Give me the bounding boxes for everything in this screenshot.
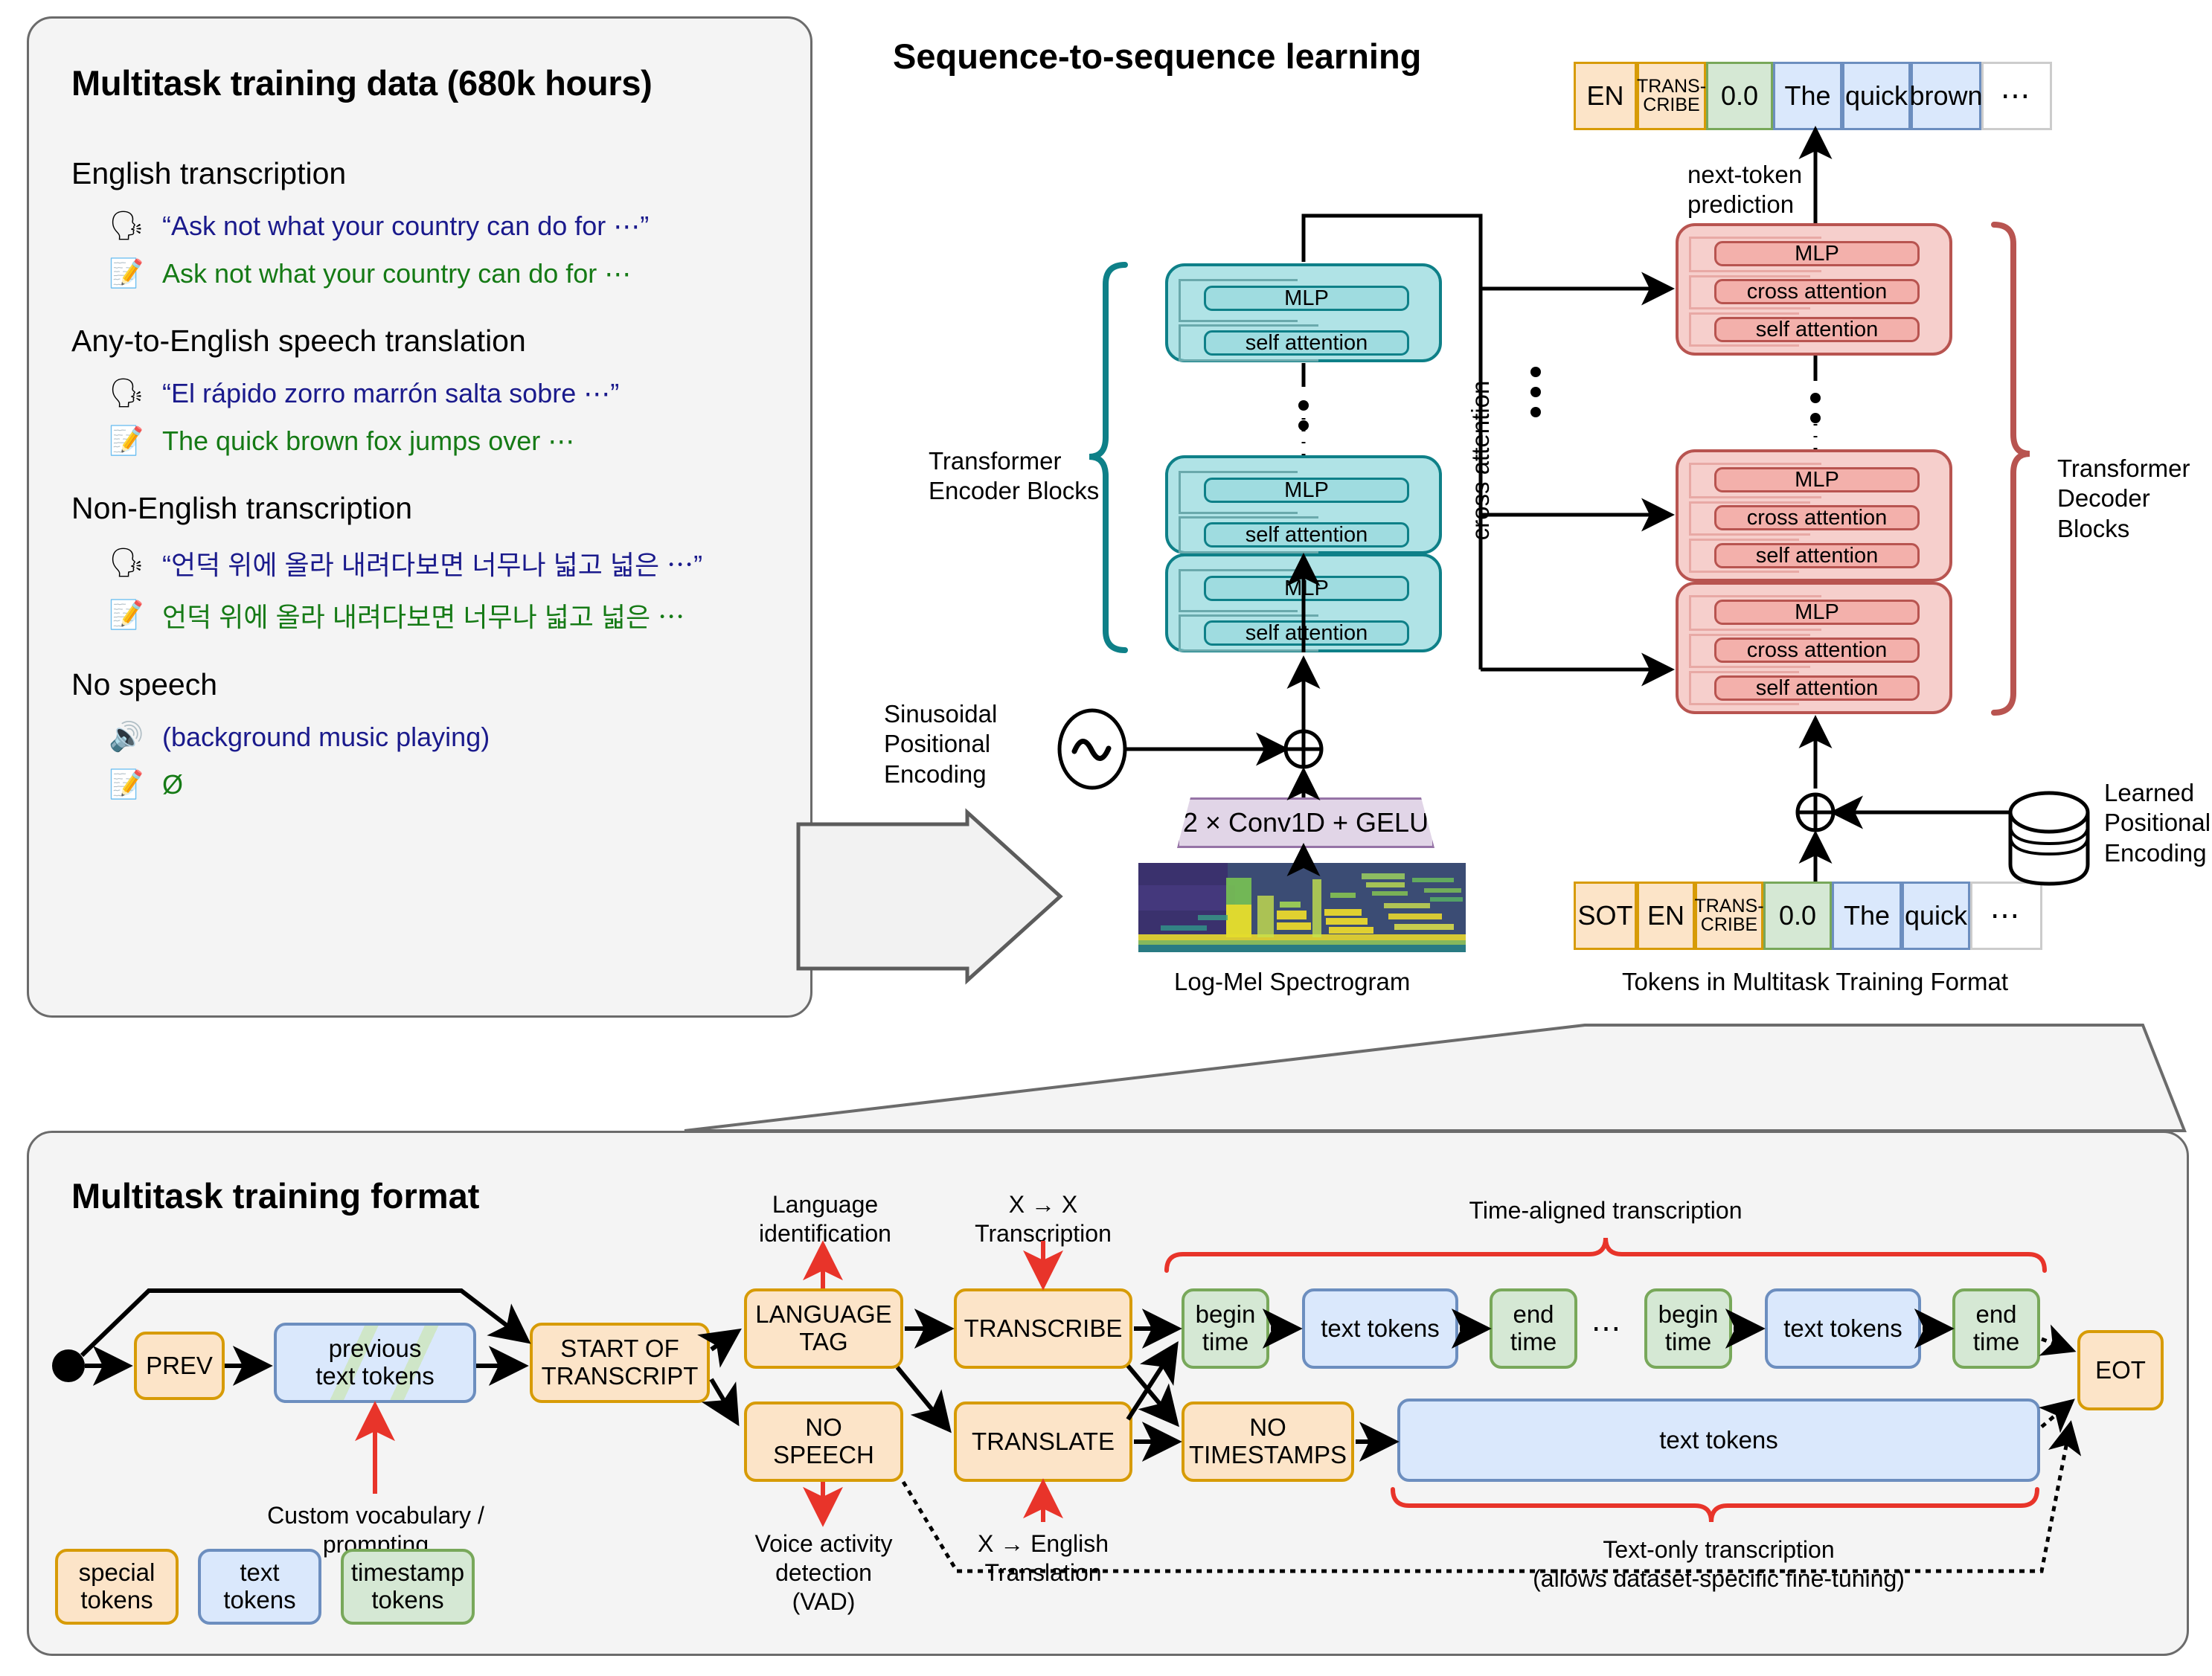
node-translate[interactable]: TRANSLATE [954,1402,1132,1482]
node-previous-text-tokens[interactable]: previous text tokens [274,1323,476,1403]
node-start-of-transcript[interactable]: START OF TRANSCRIPT [530,1323,710,1403]
node-no-timestamps[interactable]: NO TIMESTAMPS [1182,1402,1354,1482]
token-ellipsis: ⋯ [1981,62,2052,130]
token-en: EN [1574,62,1637,130]
sine-wave-icon [1074,741,1109,758]
spectrogram-caption: Log-Mel Spectrogram [1174,967,1410,997]
example-speech-row: 🗣 “Ask not what your country can do for … [107,209,786,243]
decoder-block-middle: MLP cross attention self attention [1676,449,1952,582]
annotation-text-only-transcription: Text-only transcription (allows dataset-… [1406,1535,2031,1593]
data-panel-title: Multitask training data (680k hours) [71,62,653,103]
panel-connector-arrow [798,812,1060,980]
speech-text: “El rápido zorro marrón salta sobre ⋯” [162,378,619,409]
category-english-transcription: English transcription 🗣 “Ask not what yo… [71,156,786,291]
category-title: No speech [71,667,786,702]
decoder-add-node [1798,794,1833,830]
learned-positional-encoding-label: Learned Positional Encoding [2104,778,2211,868]
encoder-self-attention: self attention [1204,330,1409,356]
annotation-language-identification: Language identification [707,1190,943,1248]
encoder-add-node [1286,731,1321,767]
token-timestamp-0: 0.0 [1763,882,1832,950]
input-token-strip: SOT EN TRANS- CRIBE 0.0 The quick ⋯ [1574,882,2042,950]
learned-pe-cylinder [2010,793,2088,884]
decoder-cross-attention: cross attention [1714,505,1920,530]
node-begin-time-1[interactable]: begin time [1182,1288,1269,1369]
next-token-prediction-label: next-token prediction [1687,160,1802,220]
speech-text: “Ask not what your country can do for ⋯” [162,211,649,242]
cross-attention-label: cross attention [1466,334,1495,587]
node-end-time-1[interactable]: end time [1490,1288,1577,1369]
example-speech-row: 🗣 “언덕 위에 올라 내려다보면 너무나 넓고 넓은 ⋯” [107,544,786,582]
decoder-self-attention: self attention [1714,675,1920,701]
encoder-self-attention: self attention [1204,522,1409,548]
category-title: Any-to-English speech translation [71,324,786,359]
token-the: The [1832,882,1902,950]
encoder-block-middle: MLP self attention [1165,455,1442,554]
token-ellipsis: ⋯ [1970,882,2042,950]
node-transcribe[interactable]: TRANSCRIBE [954,1288,1132,1369]
decoder-block-top: MLP cross attention self attention [1676,223,1952,356]
token-timestamp-0: 0.0 [1706,62,1773,130]
cross-attention-label-wrap: cross attention [1458,446,1503,491]
legend-special-tokens: special tokens [55,1549,179,1625]
token-brown: brown [1911,62,1981,130]
decoder-cross-attention: cross attention [1714,279,1920,304]
decoder-mlp: MLP [1714,241,1920,266]
format-panel-title: Multitask training format [71,1175,479,1216]
decoder-mlp: MLP [1714,600,1920,625]
output-token-strip: EN TRANS- CRIBE 0.0 The quick brown ⋯ [1574,62,2052,130]
decoder-block-bottom: MLP cross attention self attention [1676,582,1952,714]
sinusoid-node [1059,710,1125,788]
speech-text: (background music playing) [162,722,490,753]
encoder-blocks-label: Transformer Encoder Blocks [929,446,1099,507]
example-speech-row: 🗣 “El rápido zorro marrón salta sobre ⋯” [107,376,786,411]
memo-pencil-icon: 📝 [107,598,146,632]
format-panel-funnel [685,1025,2184,1131]
speaking-head-icon: 🗣 [107,546,146,580]
annotation-voice-activity-detection: Voice activity detection (VAD) [705,1529,942,1616]
speaking-head-icon: 🗣 [107,209,146,243]
token-transcribe: TRANS- CRIBE [1695,882,1763,950]
encoder-mlp: MLP [1204,576,1409,601]
decoder-self-attention: self attention [1714,543,1920,568]
transcript-text: Ø [162,769,183,800]
architecture-title: Sequence-to-sequence learning [893,36,1421,77]
node-text-tokens-1[interactable]: text tokens [1302,1288,1458,1369]
node-prev[interactable]: PREV [134,1332,225,1400]
conv1d-gelu-block: 2 × Conv1D + GELU [1177,797,1434,848]
speaking-head-icon: 🗣 [107,376,146,411]
example-speech-row: 🔊 (background music playing) [107,720,786,754]
example-transcript-row: 📝 언덕 위에 올라 내려다보면 너무나 넓고 넓은 ⋯ [107,596,786,635]
encoder-mlp: MLP [1204,478,1409,503]
category-title: Non-English transcription [71,491,786,526]
legend-timestamp-tokens: timestamp tokens [341,1549,475,1625]
sinusoidal-positional-encoding-label: Sinusoidal Positional Encoding [884,699,997,789]
node-text-tokens-2[interactable]: text tokens [1765,1288,1921,1369]
decoder-blocks-label: Transformer Decoder Blocks [2057,454,2212,544]
example-transcript-row: 📝 Ask not what your country can do for ⋯ [107,257,786,291]
decoder-cross-attention: cross attention [1714,638,1920,663]
loudspeaker-icon: 🔊 [107,720,146,754]
transcript-text: The quick brown fox jumps over ⋯ [162,426,574,457]
example-transcript-row: 📝 The quick brown fox jumps over ⋯ [107,424,786,458]
encoder-block-bottom: MLP self attention [1165,553,1442,652]
memo-pencil-icon: 📝 [107,768,146,802]
node-eot[interactable]: EOT [2077,1330,2164,1410]
token-en: EN [1637,882,1695,950]
node-ellipsis: ⋯ [1580,1314,1634,1343]
node-begin-time-2[interactable]: begin time [1644,1288,1732,1369]
token-transcribe: TRANS- CRIBE [1637,62,1706,130]
decoder-mlp: MLP [1714,467,1920,492]
spectrogram-image [1138,863,1466,952]
legend-text-tokens: text tokens [198,1549,321,1625]
annotation-x-to-english-translation: X → English Translation [923,1529,1164,1587]
category-no-speech: No speech 🔊 (background music playing) 📝… [71,667,786,802]
token-quick: quick [1902,882,1970,950]
example-transcript-row: 📝 Ø [107,768,786,802]
data-categories-list: English transcription 🗣 “Ask not what yo… [71,156,786,802]
decoder-self-attention: self attention [1714,317,1920,342]
token-the: The [1773,62,1842,130]
annotation-time-aligned-transcription: Time-aligned transcription [1323,1196,1888,1225]
node-no-speech[interactable]: NO SPEECH [744,1402,903,1482]
category-any-to-english-speech-translation: Any-to-English speech translation 🗣 “El … [71,324,786,458]
speech-text: “언덕 위에 올라 내려다보면 너무나 넓고 넓은 ⋯” [162,544,702,582]
tokens-caption: Tokens in Multitask Training Format [1622,967,2008,997]
memo-pencil-icon: 📝 [107,257,146,291]
transcript-text: Ask not what your country can do for ⋯ [162,258,631,289]
decoder-brace [1994,225,2030,713]
encoder-mlp: MLP [1204,286,1409,311]
node-language-tag[interactable]: LANGUAGE TAG [744,1288,903,1369]
transcript-text: 언덕 위에 올라 내려다보면 너무나 넓고 넓은 ⋯ [162,596,685,635]
token-sot: SOT [1574,882,1637,950]
memo-pencil-icon: 📝 [107,424,146,458]
encoder-self-attention: self attention [1204,620,1409,646]
token-quick: quick [1842,62,1911,130]
log-mel-spectrogram [1138,863,1466,952]
node-end-time-2[interactable]: end time [1952,1288,2040,1369]
encoder-block-top: MLP self attention [1165,263,1442,362]
annotation-x-to-x-transcription: X → X Transcription [924,1190,1162,1248]
category-title: English transcription [71,156,786,191]
node-text-tokens-long[interactable]: text tokens [1397,1399,2040,1482]
category-non-english-transcription: Non-English transcription 🗣 “언덕 위에 올라 내려… [71,491,786,635]
